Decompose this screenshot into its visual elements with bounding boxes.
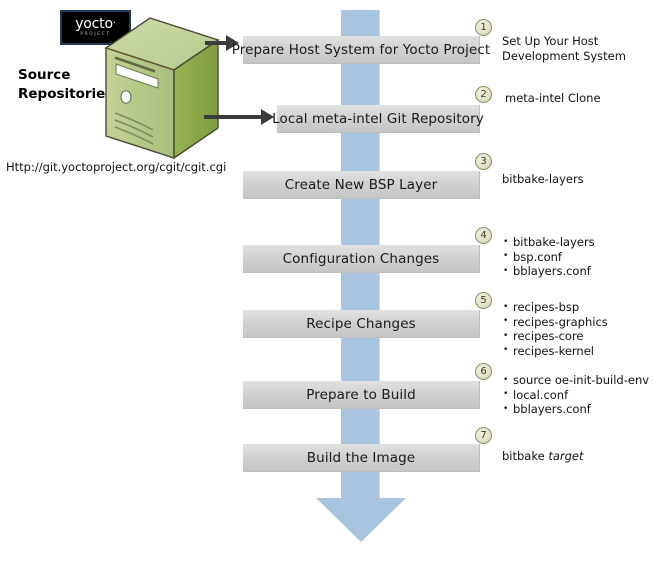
annotation-step-4-line-1: bitbake-layers [502,235,595,250]
annotation-step-4-line-3: bblayers.conf [502,264,595,279]
step-number-1: 1 [475,19,492,36]
annotation-step-3: bitbake-layers [502,172,584,187]
annotation-step-7: bitbake target [502,449,584,464]
process-box-step-4[interactable]: Configuration Changes [243,245,480,273]
annotation-step-1-line-1: Set Up Your Host [502,34,626,49]
step-number-7-text: 7 [480,431,486,441]
annotation-step-6-line-3: bblayers.conf [502,402,649,417]
process-box-step-7-label: Build the Image [307,450,415,466]
annotation-step-2: meta-intel Clone [505,91,601,106]
process-box-step-4-label: Configuration Changes [283,251,440,267]
annotation-step-1: Set Up Your Host Development System [502,34,626,63]
process-box-step-5[interactable]: Recipe Changes [243,310,480,338]
step-number-3-text: 3 [480,157,486,167]
process-box-step-3[interactable]: Create New BSP Layer [243,171,480,199]
process-box-step-6[interactable]: Prepare to Build [243,381,480,409]
annotation-step-5-line-4: recipes-kernel [502,344,608,359]
annotation-step-5: recipes-bsp recipes-graphics recipes-cor… [502,300,608,358]
annotation-step-5-line-3: recipes-core [502,329,608,344]
process-box-step-7[interactable]: Build the Image [243,444,480,472]
annotation-step-6: source oe-init-build-env local.conf bbla… [502,373,649,417]
annotation-step-5-line-2: recipes-graphics [502,315,608,330]
step-number-4-text: 4 [480,231,486,241]
annotation-step-6-line-1: source oe-init-build-env [502,373,649,388]
process-box-step-1-label: Prepare Host System for Yocto Project [232,42,491,58]
connector-arrow-to-step-2 [204,109,280,125]
annotation-step-5-line-1: recipes-bsp [502,300,608,315]
step-number-5: 5 [475,292,492,309]
process-box-step-2[interactable]: Local meta-intel Git Repository [277,105,480,133]
step-number-2-text: 2 [480,90,486,100]
step-number-2: 2 [475,86,492,103]
process-box-step-1[interactable]: Prepare Host System for Yocto Project [243,36,480,64]
process-box-step-2-label: Local meta-intel Git Repository [272,111,484,127]
step-number-6-text: 6 [480,367,486,377]
annotation-step-7-command: bitbake [502,449,548,463]
annotation-step-2-line-1: meta-intel Clone [505,91,601,106]
step-number-5-text: 5 [480,296,486,306]
process-box-step-3-label: Create New BSP Layer [285,177,438,193]
step-number-6: 6 [475,363,492,380]
process-box-step-5-label: Recipe Changes [306,316,416,332]
step-number-7: 7 [475,427,492,444]
annotation-step-7-argument: target [548,449,583,463]
step-number-4: 4 [475,227,492,244]
annotation-step-1-line-2: Development System [502,49,626,64]
annotation-step-4: bitbake-layers bsp.conf bblayers.conf [502,235,595,279]
annotation-step-4-line-2: bsp.conf [502,250,595,265]
annotation-step-6-line-2: local.conf [502,388,649,403]
flow-arrow-head-icon [316,498,406,542]
step-number-3: 3 [475,153,492,170]
bsp-development-flow-diagram: yocto· PROJECT Source Repositories Http:… [0,0,654,564]
process-box-step-6-label: Prepare to Build [306,387,416,403]
annotation-step-3-line-1: bitbake-layers [502,172,584,187]
step-number-1-text: 1 [480,23,486,33]
annotation-step-7-line-1: bitbake target [502,449,584,464]
